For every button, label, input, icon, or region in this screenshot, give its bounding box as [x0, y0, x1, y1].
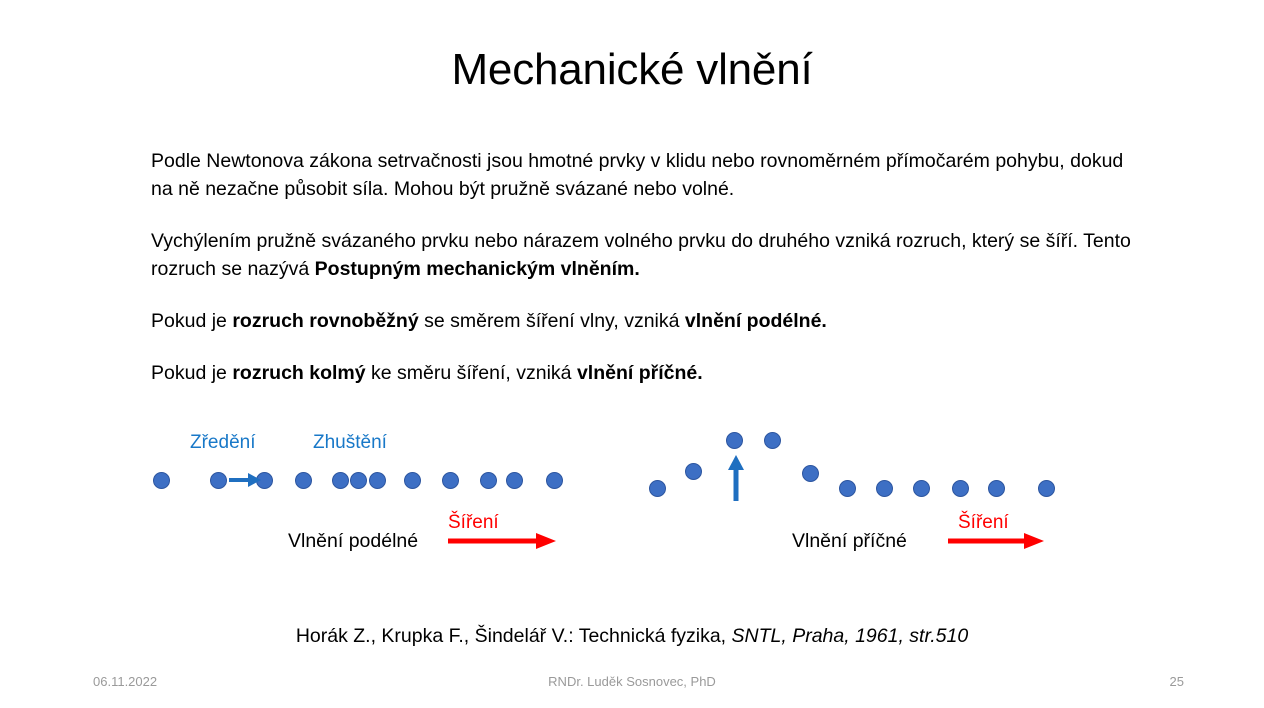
paragraph-2-run-2: Postupným mechanickým vlněním. [315, 258, 640, 280]
citation: Horák Z., Krupka F., Šindelář V.: Techni… [0, 625, 1264, 648]
citation-italic: SNTL, Praha, 1961, str.510 [732, 625, 969, 647]
page-title: Mechanické vlnění [0, 46, 1264, 94]
label-longitudinal-wave: Vlnění podélné [288, 530, 418, 553]
paragraph-3-run-1: Pokud je [151, 310, 232, 332]
paragraph-3: Pokud je rozruch rovnoběžný se směrem ší… [151, 307, 1136, 335]
particle-dot [332, 472, 349, 489]
particle-dot [876, 480, 893, 497]
citation-plain: Horák Z., Krupka F., Šindelář V.: Techni… [296, 625, 732, 647]
particle-dot [1038, 480, 1055, 497]
particle-dot [952, 480, 969, 497]
particle-dot [988, 480, 1005, 497]
particle-dot [913, 480, 930, 497]
propagation-arrow-longitudinal-icon [446, 530, 558, 552]
paragraph-4: Pokud je rozruch kolmý ke směru šíření, … [151, 359, 1136, 387]
particle-dot [153, 472, 170, 489]
wave-diagram: Zředění Zhuštění Vlnění podélné Šíření V… [0, 410, 1264, 560]
particle-dot [442, 472, 459, 489]
label-transverse-wave: Vlnění příčné [792, 530, 907, 553]
paragraph-2-run-1: Vychýlením pružně svázaného prvku nebo n… [151, 230, 1131, 280]
particle-dot [546, 472, 563, 489]
paragraph-1: Podle Newtonova zákona setrvačnosti jsou… [151, 147, 1136, 203]
slide-footer: 06.11.2022 RNDr. Luděk Sosnovec, PhD 25 [0, 674, 1264, 698]
particle-dot [506, 472, 523, 489]
paragraph-4-run-2: rozruch kolmý [232, 362, 365, 384]
paragraph-3-run-3: se směrem šíření vlny, vzniká [419, 310, 685, 332]
footer-author: RNDr. Luděk Sosnovec, PhD [0, 674, 1264, 689]
particle-dot [726, 432, 743, 449]
paragraph-3-run-2: rozruch rovnoběžný [232, 310, 418, 332]
particle-displacement-arrow-icon [228, 468, 264, 492]
particle-dot [369, 472, 386, 489]
particle-dot [649, 480, 666, 497]
paragraph-4-run-1: Pokud je [151, 362, 232, 384]
particle-dot [210, 472, 227, 489]
particle-dot [295, 472, 312, 489]
propagation-arrow-transverse-icon [946, 530, 1046, 552]
particle-dot [480, 472, 497, 489]
particle-dot [404, 472, 421, 489]
paragraph-2: Vychýlením pružně svázaného prvku nebo n… [151, 227, 1136, 283]
label-rarefaction: Zředění [190, 432, 255, 454]
paragraph-3-run-4: vlnění podélné. [685, 310, 827, 332]
paragraph-4-run-4: vlnění příčné. [577, 362, 703, 384]
particle-dot [764, 432, 781, 449]
particle-dot [802, 465, 819, 482]
footer-page-number: 25 [1170, 674, 1184, 689]
body-text-block: Podle Newtonova zákona setrvačnosti jsou… [151, 147, 1136, 387]
label-compression: Zhuštění [313, 432, 387, 454]
paragraph-4-run-3: ke směru šíření, vzniká [366, 362, 577, 384]
particle-displacement-arrow-up-icon [726, 452, 746, 502]
particle-dot [350, 472, 367, 489]
paragraph-1-run-1: Podle Newtonova zákona setrvačnosti jsou… [151, 150, 1123, 200]
particle-dot [839, 480, 856, 497]
particle-dot [685, 463, 702, 480]
